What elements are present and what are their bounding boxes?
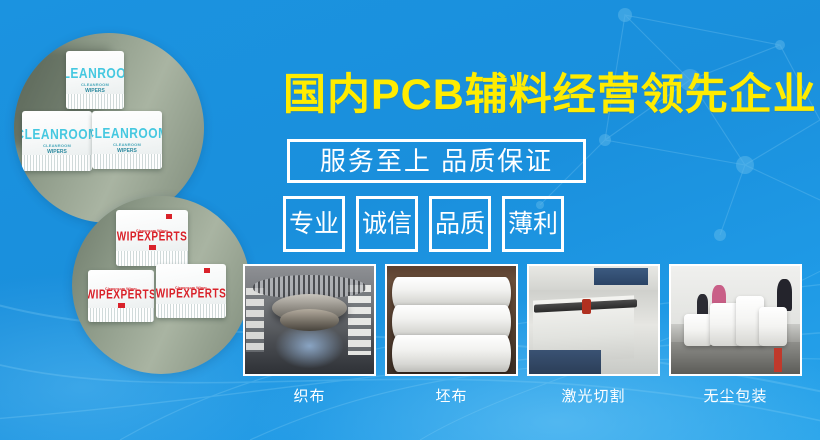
pack-brand-label: CLEANROOM <box>92 125 162 140</box>
pack-brand-label: WIPEXPERTS <box>88 290 154 303</box>
yarn-cones-right <box>348 285 371 354</box>
fabric-roll <box>392 335 511 372</box>
pack-brand-label: CLEANROOM <box>66 65 124 80</box>
machine-ring-lower <box>280 309 339 331</box>
packed-goods-stack <box>759 307 787 346</box>
packed-goods-stack <box>684 314 712 346</box>
worker <box>697 294 709 316</box>
feature-badges: 专业 诚信 品质 薄利 <box>283 196 564 252</box>
pack-fold-texture <box>88 308 154 322</box>
pack-sub-label: CLEANROOM <box>113 142 141 147</box>
pack-fold-texture <box>22 155 92 171</box>
pack-tag <box>118 303 125 308</box>
wipe-pack: Cleanroom Wiper WIPEXPERTS <box>156 264 226 318</box>
process-step: 激光切割 <box>527 264 660 406</box>
subtitle-box: 服务至上 品质保证 <box>287 139 586 183</box>
pack-sub-label: CLEANROOM <box>81 82 109 87</box>
process-caption: 织布 <box>293 385 325 406</box>
wipe-pack: CLEANROOM CLEANROOM WIPERS <box>92 111 162 169</box>
wipe-pack: Cleanroom Wiper WIPEXPERTS <box>116 210 188 266</box>
wipe-pack: CLEANROOM CLEANROOM WIPERS <box>66 51 124 109</box>
pack-sub2-label: WIPERS <box>47 149 67 155</box>
badge-zhuanye: 专业 <box>283 196 345 252</box>
process-caption: 激光切割 <box>561 385 625 406</box>
laser-cutting-image <box>529 266 658 374</box>
pack-sub2-label: WIPERS <box>85 88 105 94</box>
pack-fold-texture <box>92 154 162 169</box>
yarn-cones-left <box>246 288 264 353</box>
pack-sub2-label: WIPERS <box>117 148 137 154</box>
process-photo-laser-cutting <box>527 264 660 376</box>
laser-panel <box>594 268 648 285</box>
red-bin <box>774 348 782 372</box>
process-step: 无尘包装 <box>669 264 802 406</box>
pack-sub-label: CLEANROOM <box>43 143 71 148</box>
pack-fold-texture <box>156 304 226 318</box>
process-step: 坯布 <box>385 264 518 406</box>
pack-red-tag <box>166 214 172 219</box>
knitting-machine-image <box>245 266 374 374</box>
process-photo-knitting <box>243 264 376 376</box>
pack-brand-label: CLEANROOM <box>22 126 92 141</box>
wipe-pack: CLEANROOM CLEANROOM WIPERS <box>22 111 92 171</box>
process-photo-cleanroom-packing <box>669 264 802 376</box>
badge-chengxin: 诚信 <box>356 196 418 252</box>
headline: 国内PCB辅料经营领先企业 <box>283 74 817 117</box>
wipe-pack: Cleanroom Wiper WIPEXPERTS <box>88 270 154 322</box>
product-photo-cleanroom: CLEANROOM CLEANROOM WIPERS CLEANROOM CLE… <box>14 33 204 223</box>
process-caption: 无尘包装 <box>703 385 767 406</box>
laser-head <box>582 299 591 313</box>
badge-baoli: 薄利 <box>502 196 564 252</box>
pack-fold-texture <box>66 94 124 109</box>
pack-brand-label: WIPEXPERTS <box>117 232 188 245</box>
fabric-rolls-image <box>387 266 516 374</box>
process-step: 织布 <box>243 264 376 406</box>
cleanroom-packing-image <box>671 266 800 374</box>
promo-banner: CLEANROOM CLEANROOM WIPERS CLEANROOM CLE… <box>0 0 820 440</box>
product-photo-wipexperts: Cleanroom Wiper WIPEXPERTS Cleanroom Wip… <box>72 196 250 374</box>
pack-tag <box>149 245 156 250</box>
badge-pinzhi: 品质 <box>429 196 491 252</box>
process-photo-fabric-rolls <box>385 264 518 376</box>
laser-machine-body <box>529 350 601 374</box>
pack-red-tag <box>204 268 210 273</box>
subtitle-text: 服务至上 品质保证 <box>320 148 553 174</box>
process-photo-strip: 织布 坯布 <box>243 264 802 406</box>
pack-brand-label: WIPEXPERTS <box>156 288 226 301</box>
process-caption: 坯布 <box>435 385 467 406</box>
